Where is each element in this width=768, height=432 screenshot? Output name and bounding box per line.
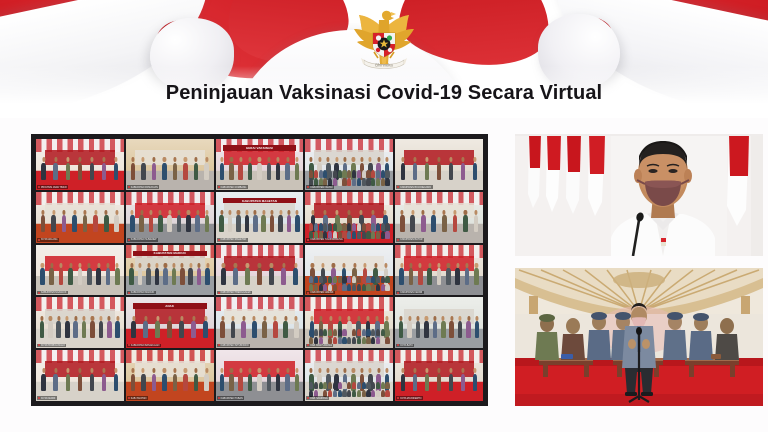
tile-crowd-person <box>357 337 361 344</box>
tile-crowd-person <box>362 284 366 291</box>
tile-person <box>446 268 451 285</box>
tile-person-head <box>198 263 201 268</box>
tile-person-head <box>442 316 445 321</box>
tile-person-head <box>453 210 456 215</box>
video-tile[interactable]: GERAI VAKSINASIKABUPATEN JOMBANG <box>216 139 304 190</box>
tile-person <box>155 268 160 285</box>
tile-person <box>162 163 167 180</box>
tile-person <box>102 374 107 391</box>
tile-person-head <box>52 210 55 215</box>
tile-person <box>158 215 163 232</box>
tile-participant-name: KABUPATEN NGAWI <box>306 185 333 189</box>
tile-crowd-person <box>385 170 389 177</box>
tile-person-head <box>78 368 81 373</box>
tile-person <box>155 321 160 338</box>
tile-person <box>453 215 458 232</box>
tile-person <box>236 215 241 232</box>
tile-person-head <box>408 316 411 321</box>
tile-person-head <box>142 368 145 373</box>
tile-person <box>53 374 58 391</box>
tile-crowd-person <box>352 390 356 397</box>
tile-crowd-person <box>357 382 361 389</box>
tile-crowd-person <box>362 337 366 344</box>
tile-crowd-person <box>342 276 346 283</box>
tile-person-head <box>140 210 143 215</box>
tile-crowd-person <box>385 231 389 238</box>
tile-person <box>48 321 53 338</box>
tile-person-head <box>114 368 117 373</box>
tile-person <box>399 321 404 338</box>
tile-person <box>204 374 209 391</box>
tile-person-head <box>116 263 119 268</box>
tile-person-head <box>425 316 428 321</box>
tile-person <box>68 268 73 285</box>
tile-person-head <box>433 316 436 321</box>
tile-person <box>114 163 119 180</box>
tile-person-head <box>284 316 287 321</box>
tile-person <box>431 215 436 232</box>
tile-person <box>162 374 167 391</box>
tile-person-head <box>163 157 166 162</box>
pendopo-officials-feed[interactable] <box>515 268 763 406</box>
tile-crowd-person <box>338 223 342 230</box>
tile-participant-name: KAB. PACITAN <box>127 396 148 400</box>
tile-person <box>180 268 185 285</box>
tile-person-head <box>149 210 152 215</box>
tile-participant-name: KABUPATEN BOJONEGORO <box>396 185 432 189</box>
tile-person-head <box>41 210 44 215</box>
video-tile[interactable]: ANAKKABUPATEN BANGKALAN <box>126 297 214 348</box>
tile-person <box>163 268 168 285</box>
tile-person <box>461 163 466 180</box>
tile-person <box>78 163 83 180</box>
video-tile[interactable]: KABUPATEN MAGETANKABUPATEN MAGETAN <box>216 192 304 243</box>
tile-person <box>473 163 478 180</box>
tile-person-head <box>271 210 274 215</box>
tile-person <box>401 163 406 180</box>
tile-person-head <box>60 263 63 268</box>
tile-attendees <box>128 265 212 285</box>
tile-person-head <box>400 263 403 268</box>
tile-person-head <box>230 157 233 162</box>
video-tile-scene <box>395 192 483 243</box>
tile-crowd-person <box>366 390 370 397</box>
tile-person-head <box>286 157 289 162</box>
tile-event-banner: GERAI VAKSINASI <box>223 145 297 151</box>
video-tile[interactable]: KOTA PROBOLINGGO <box>36 297 124 348</box>
tile-person-head <box>131 157 134 162</box>
tile-person-head <box>428 263 431 268</box>
tile-person-head <box>295 157 298 162</box>
tile-crowd-person <box>366 231 370 238</box>
tile-person <box>40 321 45 338</box>
tile-crowd-person <box>309 329 313 336</box>
tile-person-head <box>401 157 404 162</box>
tile-person <box>294 321 299 338</box>
tile-person <box>463 215 468 232</box>
tile-person-head <box>78 157 81 162</box>
tile-person <box>205 215 210 232</box>
video-tile[interactable]: KABUPATEN NGANJUK <box>36 245 124 296</box>
tile-person <box>183 374 188 391</box>
tile-person-head <box>401 368 404 373</box>
tile-crowd-person <box>347 178 351 185</box>
tile-person <box>102 163 107 180</box>
tile-person-head <box>142 157 145 162</box>
tile-person-head <box>57 316 60 321</box>
tile-person-head <box>155 263 158 268</box>
video-grid: PROVINSI JAWA TIMURKABUPATEN PASURUANGER… <box>36 139 483 401</box>
tile-participant-name: PROVINSI JAWA TIMUR <box>37 185 68 189</box>
tile-person <box>257 374 262 391</box>
tile-crowd-person <box>342 337 346 344</box>
tile-person-head <box>115 210 118 215</box>
tile-crowd-person <box>323 223 327 230</box>
tile-crowd-person <box>357 390 361 397</box>
tile-person-head <box>270 263 273 268</box>
video-tile-scene <box>36 350 124 401</box>
tile-attendees <box>397 159 481 179</box>
tile-person-head <box>425 157 428 162</box>
tile-person-head <box>237 210 240 215</box>
tile-person-head <box>130 263 133 268</box>
tile-crowd-person <box>385 178 389 185</box>
tile-crowd-person <box>309 223 313 230</box>
tile-crowd-person <box>376 178 380 185</box>
tile-crowd-person <box>352 337 356 344</box>
tile-person-head <box>114 157 117 162</box>
tile-person-head <box>82 316 85 321</box>
tile-crowd-person <box>352 223 356 230</box>
video-tile[interactable]: KAB. BANYUWANGI <box>305 297 393 348</box>
tile-person <box>56 321 61 338</box>
video-tile-scene <box>216 350 304 401</box>
tile-crowd-person <box>376 329 380 336</box>
tile-person-head <box>180 316 183 321</box>
tile-person-head <box>94 210 97 215</box>
tile-person <box>409 268 414 285</box>
tile-crowd-person <box>366 276 370 283</box>
tile-person <box>139 215 144 232</box>
tile-participant-name: KABUPATEN GRESIK <box>306 291 334 295</box>
tile-person-head <box>253 316 256 321</box>
video-tile[interactable]: KABUPATEN SUMENEP <box>126 192 214 243</box>
tile-person <box>131 374 136 391</box>
tile-person-head <box>99 316 102 321</box>
tile-participant-name: KABUPATEN TUBAN <box>217 396 245 400</box>
tile-person <box>238 374 243 391</box>
tile-crowd-person <box>347 276 351 283</box>
tile-attendees <box>397 265 481 285</box>
tile-person <box>276 163 281 180</box>
tile-person <box>66 163 71 180</box>
video-tile[interactable]: KABUPATEN GRESIK <box>305 245 393 296</box>
video-tile[interactable]: KAB. PACITAN <box>126 350 214 401</box>
tile-crowd-person <box>333 390 337 397</box>
tile-person-head <box>462 368 465 373</box>
tile-crowd-person <box>385 284 389 291</box>
tile-crowd-person <box>338 382 342 389</box>
tile-person-head <box>196 210 199 215</box>
video-tile[interactable]: KABUPATEN BOJONEGORO <box>395 139 483 190</box>
video-tile[interactable]: KOTA KEDIRI <box>36 350 124 401</box>
video-tile[interactable]: KABUPATEN MADIUNKABUPATEN MADIUN <box>126 245 214 296</box>
tile-person <box>78 268 83 285</box>
video-tile[interactable]: KABUPATEN TUBAN <box>216 350 304 401</box>
tile-person-head <box>184 157 187 162</box>
tile-person-head <box>254 210 257 215</box>
video-tile-scene <box>216 245 304 296</box>
tile-person-head <box>282 263 285 268</box>
tile-person <box>474 215 479 232</box>
tile-participant-name: KOTA BATU <box>396 344 414 348</box>
tile-person <box>191 321 196 338</box>
tile-crowd-person <box>352 170 356 177</box>
tile-crowd-person <box>328 276 332 283</box>
tile-crowd-person <box>314 276 318 283</box>
tile-person-head <box>450 368 453 373</box>
tile-crowd-person <box>323 382 327 389</box>
tile-crowd-person <box>319 382 323 389</box>
tile-person <box>220 321 225 338</box>
video-tile-scene <box>305 192 393 243</box>
tile-person-head <box>206 263 209 268</box>
tile-person-head <box>249 157 252 162</box>
tile-crowd-person <box>381 329 385 336</box>
tile-person-head <box>73 210 76 215</box>
tile-person-head <box>450 157 453 162</box>
video-tile-scene <box>126 192 214 243</box>
tile-crowd-person <box>362 329 366 336</box>
tile-crowd-person <box>385 382 389 389</box>
tile-crowd-person <box>328 329 332 336</box>
tile-person-head <box>147 263 150 268</box>
tile-crowd-person <box>366 337 370 344</box>
tile-person <box>143 321 148 338</box>
tile-person <box>455 268 460 285</box>
tile-crowd-person <box>309 276 313 283</box>
tile-person <box>195 215 200 232</box>
video-tile[interactable]: KABUPATEN KEDIRI <box>395 245 483 296</box>
tile-person-head <box>467 316 470 321</box>
video-tile[interactable]: KABUPATEN NGAWI <box>305 139 393 190</box>
tile-attendees <box>397 212 481 232</box>
tile-person-head <box>69 263 72 268</box>
tile-crowd-person <box>338 390 342 397</box>
tile-person <box>273 321 278 338</box>
tile-crowd-person <box>362 223 366 230</box>
tile-person-head <box>42 157 45 162</box>
tile-crowd-person <box>376 382 380 389</box>
tile-person <box>197 268 202 285</box>
tile-person-head <box>295 368 298 373</box>
tile-crowd-person <box>371 276 375 283</box>
video-tile-scene <box>395 139 483 190</box>
tile-person <box>437 163 442 180</box>
tile-person <box>205 268 210 285</box>
video-tile-scene <box>395 297 483 348</box>
tile-person <box>427 268 432 285</box>
tile-person <box>400 215 405 232</box>
tile-crowd-person <box>366 170 370 177</box>
video-tile[interactable]: KOTA MALANG <box>36 192 124 243</box>
video-tile[interactable]: KOTA MOJOKERTO <box>395 350 483 401</box>
tile-crowd-person <box>371 231 375 238</box>
tile-participant-name: KABUPATEN MADIUN <box>127 291 156 295</box>
tile-person-head <box>97 263 100 268</box>
tile-participant-name: KABUPATEN MAGETAN <box>217 238 248 242</box>
tile-crowd-person <box>342 390 346 397</box>
tile-person-head <box>456 263 459 268</box>
tile-attendees <box>397 371 481 391</box>
tile-participant-name: KABUPATEN SITUBONDO <box>217 344 250 348</box>
tile-person <box>233 268 238 285</box>
tile-person <box>399 268 404 285</box>
tile-person <box>437 268 442 285</box>
tile-attendees <box>217 371 301 391</box>
tile-person-head <box>279 210 282 215</box>
tile-crowd-person <box>342 284 346 291</box>
tile-crowd-person <box>362 390 366 397</box>
tile-person-head <box>66 316 69 321</box>
tile-person <box>179 321 184 338</box>
tile-attendees <box>217 212 301 232</box>
tile-person <box>167 215 172 232</box>
tile-person-head <box>400 316 403 321</box>
tile-person <box>183 163 188 180</box>
tile-person-head <box>84 210 87 215</box>
tile-participant-name: KAB. SAMPANG <box>306 396 329 400</box>
video-tile-scene <box>126 350 214 401</box>
tile-person-head <box>74 316 77 321</box>
tile-person <box>449 321 454 338</box>
tile-person-head <box>204 316 207 321</box>
tile-person <box>106 268 111 285</box>
tile-person-head <box>232 316 235 321</box>
tile-person <box>220 374 225 391</box>
tile-person-head <box>173 157 176 162</box>
tile-person-head <box>116 316 119 321</box>
tile-person-head <box>187 210 190 215</box>
tile-crowd-person <box>362 382 366 389</box>
tile-event-banner: ANAK <box>133 303 207 309</box>
tile-person <box>228 215 233 232</box>
video-tile-scene <box>305 297 393 348</box>
tile-person <box>424 321 429 338</box>
tile-person-head <box>189 263 192 268</box>
video-tile[interactable]: KOTA BATU <box>395 297 483 348</box>
tile-crowd-person <box>333 337 337 344</box>
tile-person <box>204 163 209 180</box>
tile-crowd-person <box>362 276 366 283</box>
tile-person <box>130 215 135 232</box>
tile-person <box>283 321 288 338</box>
tile-crowd-person <box>328 223 332 230</box>
tile-participant-name: KABUPATEN BANGKALAN <box>127 344 161 348</box>
video-tile[interactable]: KABUPATEN PASURUAN <box>126 139 214 190</box>
tile-person <box>152 374 157 391</box>
tile-participant-name: KABUPATEN TRENGGALEK <box>217 291 252 295</box>
video-tile[interactable]: KABUPATEN BLITAR <box>395 192 483 243</box>
tile-crowd-person <box>314 170 318 177</box>
video-tile[interactable]: KABUPATEN SITUBONDO <box>216 297 304 348</box>
tile-person-head <box>450 316 453 321</box>
tile-person-head <box>267 157 270 162</box>
video-tile[interactable]: KAB. SAMPANG <box>305 350 393 401</box>
tile-crowd <box>305 371 393 397</box>
tile-person-head <box>437 368 440 373</box>
tile-crowd-person <box>347 231 351 238</box>
tile-person <box>221 268 226 285</box>
tile-person-head <box>437 263 440 268</box>
tile-person-head <box>221 316 224 321</box>
tile-person <box>90 163 95 180</box>
tile-person <box>410 215 415 232</box>
tile-person-head <box>474 210 477 215</box>
tile-person <box>229 374 234 391</box>
tile-person <box>41 215 46 232</box>
tile-crowd-person <box>347 382 351 389</box>
tile-person <box>257 268 262 285</box>
tile-crowd-person <box>381 223 385 230</box>
tile-crowd-person <box>381 390 385 397</box>
tile-person <box>269 268 274 285</box>
tile-person-head <box>262 210 265 215</box>
tile-crowd-person <box>381 276 385 283</box>
tile-person-head <box>194 368 197 373</box>
video-tile[interactable]: KABUPATEN TRENGGALEK <box>216 245 304 296</box>
video-tile[interactable]: KABUPATEN TULUNGAGUNG <box>305 192 393 243</box>
video-tile[interactable]: PROVINSI JAWA TIMUR <box>36 139 124 190</box>
president-podium-feed[interactable] <box>515 134 763 256</box>
tile-person <box>245 215 250 232</box>
tile-crowd <box>305 265 393 291</box>
tile-person-head <box>425 368 428 373</box>
tile-person-head <box>220 157 223 162</box>
tile-person <box>141 374 146 391</box>
tile-crowd-person <box>342 178 346 185</box>
tile-person-head <box>246 263 249 268</box>
tile-crowd-person <box>371 223 375 230</box>
tile-crowd-person <box>319 276 323 283</box>
tile-participant-name: KAB. BANYUWANGI <box>306 344 333 348</box>
tile-crowd-person <box>352 284 356 291</box>
screenshot-root: Bhinneka Peninjauan Vaksinasi Covid-19 S… <box>0 0 768 432</box>
tile-person <box>474 268 479 285</box>
tile-person-head <box>41 263 44 268</box>
svg-text:Bhinneka: Bhinneka <box>375 63 393 68</box>
tile-attendees <box>38 371 122 391</box>
tile-person <box>276 374 281 391</box>
tile-crowd-person <box>376 337 380 344</box>
tile-crowd-person <box>352 329 356 336</box>
tile-person <box>51 215 56 232</box>
tile-crowd-person <box>357 170 361 177</box>
tile-person-head <box>78 263 81 268</box>
tile-crowd-person <box>357 284 361 291</box>
video-grid-panel[interactable]: PROVINSI JAWA TIMURKABUPATEN PASURUANGER… <box>31 134 488 406</box>
tile-person-head <box>475 316 478 321</box>
tile-attendees <box>128 371 212 391</box>
tile-person-head <box>294 263 297 268</box>
tile-person-head <box>194 157 197 162</box>
tile-person <box>40 268 45 285</box>
tile-crowd-person <box>338 178 342 185</box>
tile-person <box>115 268 120 285</box>
tile-person-head <box>274 316 277 321</box>
tile-person-head <box>172 263 175 268</box>
tile-person <box>473 374 478 391</box>
